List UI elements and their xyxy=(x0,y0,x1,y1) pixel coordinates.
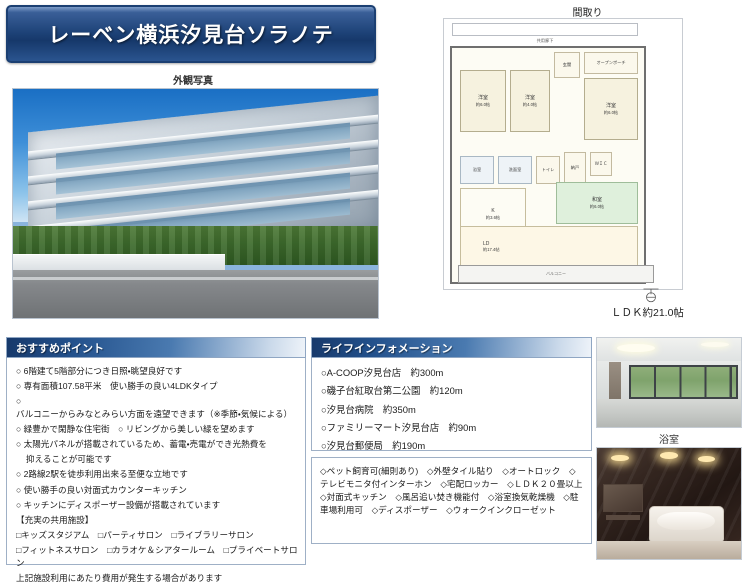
life-info-item-text: 汐見台病院 約350m xyxy=(327,404,416,415)
room-bedroom-3: 洋室 約6.0帖 xyxy=(584,78,638,140)
room-wic: ＷＩＣ xyxy=(590,152,612,176)
balcony: バルコニー xyxy=(458,265,654,283)
bathroom-photo-caption: 浴室 xyxy=(596,431,742,446)
common-corridor xyxy=(452,23,638,36)
room-size: 約17.4帖 xyxy=(483,247,500,252)
room-size: 約6.0帖 xyxy=(476,102,490,107)
toilet-label: トイレ xyxy=(542,167,555,172)
facility-heading: 【充実の共用施設】 xyxy=(16,514,299,526)
exterior-photo xyxy=(12,88,379,319)
open-porch-label: オープンポーチ xyxy=(596,60,625,65)
recommend-item-text: 6階建て5階部分につき日照・眺望良好です xyxy=(24,366,183,376)
bath-label: 浴室 xyxy=(473,167,481,172)
room-bath: 浴室 xyxy=(460,156,494,184)
ceiling-light-icon xyxy=(701,342,730,347)
room-entrance: 玄関 xyxy=(554,52,580,78)
facility-note: 上記施設利用にあたり費用が発生する場合があります xyxy=(16,572,299,584)
list-item: ○ 6階建て5階部分につき日照・眺望良好です xyxy=(16,365,299,377)
unit-outline: 洋室 約6.0帖 洋室 約4.0帖 洋室 約6.0帖 玄関 オープンポーチ 浴室 xyxy=(450,46,646,284)
room-bedroom-2: 洋室 約4.0帖 xyxy=(510,70,550,132)
room-size: 約3.6帖 xyxy=(486,215,500,220)
room-japanese-style: 和室 約6.0帖 xyxy=(556,182,638,224)
left-column: レーベン横浜汐見台ソラノテ 外観写真 おすすめポイント ○ 6階建て5階部分につ… xyxy=(0,0,431,567)
room-size: 約6.0帖 xyxy=(604,110,618,115)
life-info-item-text: 汐見台郵便局 約190m xyxy=(327,440,425,451)
page-title: レーベン横浜汐見台ソラノテ xyxy=(48,19,334,49)
recommend-item-text: キッチンにディスポーザー設備が搭載されています xyxy=(24,500,221,510)
list-item: ○ キッチンにディスポーザー設備が搭載されています xyxy=(16,499,299,511)
room-size: 約6.0帖 xyxy=(590,204,604,209)
list-item: ○ 専有面積107.58平米 使い勝手の良い4LDKタイプ xyxy=(16,380,299,392)
bathroom-photo xyxy=(596,447,742,560)
entrance-label: 玄関 xyxy=(563,62,571,67)
recommend-item-text: 専有面積107.58平米 使い勝手の良い4LDKタイプ xyxy=(24,381,218,391)
room-size: 約4.0帖 xyxy=(523,102,537,107)
compass-icon xyxy=(642,286,660,304)
floorplan-diagram: 共用廊下 洋室 約6.0帖 洋室 約4.0帖 洋室 約6.0帖 玄関 オープンポ… xyxy=(443,18,683,290)
interior-living-photo xyxy=(596,337,742,428)
room-toilet: トイレ xyxy=(536,156,560,184)
window-wall xyxy=(629,365,738,399)
bathtub xyxy=(649,506,724,543)
washroom-label: 洗面室 xyxy=(509,167,522,172)
recommend-item-text: バルコニーからみなとみらい方面を遠望できます（※季節・気候による） xyxy=(16,409,292,419)
street xyxy=(13,270,378,318)
wic-label: ＷＩＣ xyxy=(595,161,608,166)
common-corridor-label: 共用廊下 xyxy=(452,38,638,44)
room-nando: 納戸 xyxy=(564,152,586,184)
exterior-photo-caption: 外観写真 xyxy=(0,72,386,87)
recommend-list: ○ 6階建て5階部分につき日照・眺望良好です ○ 専有面積107.58平米 使い… xyxy=(16,365,299,511)
nando-label: 納戸 xyxy=(571,165,579,170)
ldk-size-caption: ＬＤＫ約21.0帖 xyxy=(611,305,744,320)
floorplan-heading: 間取り xyxy=(431,4,744,19)
recommend-heading: おすすめポイント xyxy=(16,340,104,356)
recommend-item-text: 使い勝手の良い対面式カウンターキッチン xyxy=(24,485,187,495)
list-item: ○ バルコニーからみなとみらい方面を遠望できます（※季節・気候による） xyxy=(16,395,299,419)
facility-line-2: □フィットネスサロン □カラオケ＆シアタールーム □プライベートサロン xyxy=(16,544,299,568)
property-title-banner: レーベン横浜汐見台ソラノテ xyxy=(6,5,376,63)
open-porch: オープンポーチ xyxy=(584,52,638,74)
recommend-panel: おすすめポイント ○ 6階建て5階部分につき日照・眺望良好です ○ 専有面積10… xyxy=(6,337,306,565)
recommend-panel-body: ○ 6階建て5階部分につき日照・眺望良好です ○ 専有面積107.58平米 使い… xyxy=(6,358,306,565)
recommend-panel-header: おすすめポイント xyxy=(6,337,306,358)
list-item: ○ 太陽光パネルが搭載されているため、蓄電・売電ができ光熱費を xyxy=(16,438,299,450)
list-item: 抑えることが可能です xyxy=(16,453,299,465)
list-item: ○ 使い勝手の良い対面式カウンターキッチン xyxy=(16,484,299,496)
life-info-item-text: A-COOP汐見台店 約300m xyxy=(327,367,444,378)
room-bedroom-1: 洋室 約6.0帖 xyxy=(460,70,506,132)
recommend-item-text: 抑えることが可能です xyxy=(26,454,112,464)
room-washroom: 洗面室 xyxy=(498,156,532,184)
bathroom-mirror xyxy=(603,484,643,513)
balcony-label: バルコニー xyxy=(546,271,566,277)
list-item: ○ 緑豊かで閑静な住宅街 ○ リビングから美しい緑を望めます xyxy=(16,423,299,435)
recommend-item-text: 太陽光パネルが搭載されているため、蓄電・売電ができ光熱費を xyxy=(24,439,267,449)
facility-line-1: □キッズスタジアム □パーティサロン □ライブラリーサロン xyxy=(16,529,299,541)
recommend-item-text: 2路線2駅を徒歩利用出来る至便な立地です xyxy=(24,469,188,479)
recommend-item-text: 緑豊かで閑静な住宅街 ○ リビングから美しい緑を望めます xyxy=(24,424,255,434)
list-item: ○ 2路線2駅を徒歩利用出来る至便な立地です xyxy=(16,468,299,480)
